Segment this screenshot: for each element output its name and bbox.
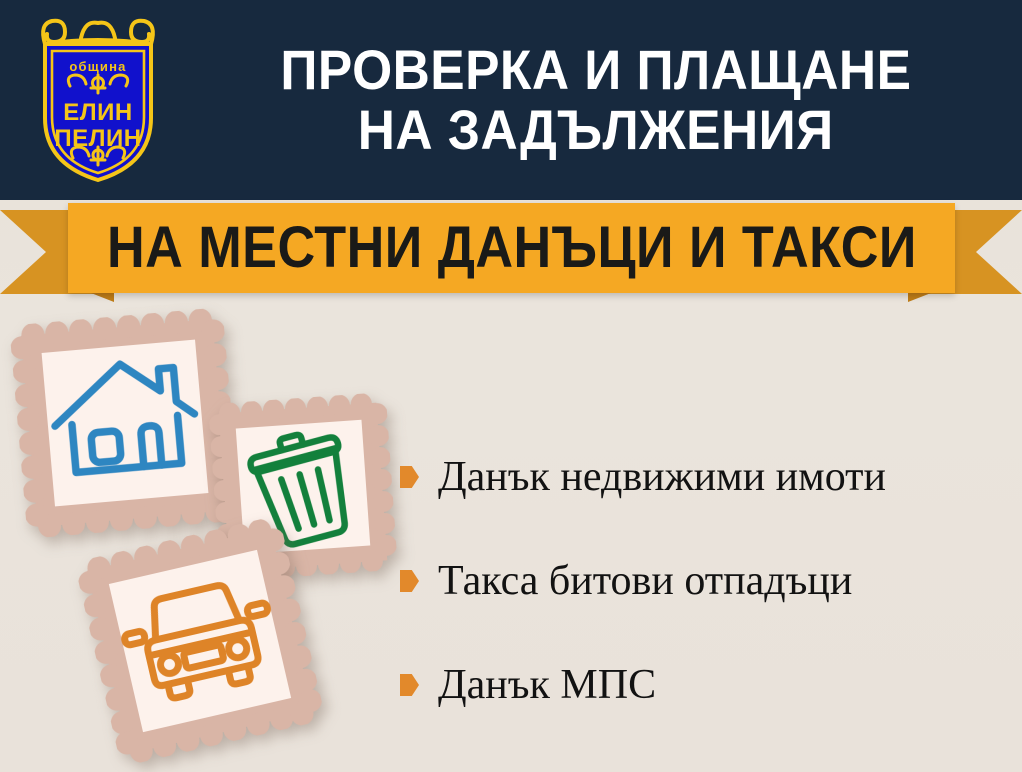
stamp-card-property xyxy=(9,307,241,539)
tax-type-list: Данък недвижими имоти Такса битови отпад… xyxy=(400,425,1010,737)
bullet-arrow-icon xyxy=(400,674,419,696)
ribbon-banner: НА МЕСТНИ ДАНЪЦИ И ТАКСИ xyxy=(68,203,955,293)
poster-header: община ЕЛИН ПЕЛИН xyxy=(0,0,1022,200)
list-item-waste-fee[interactable]: Такса битови отпадъци xyxy=(400,529,1010,633)
list-item-vehicle-tax[interactable]: Данък МПС xyxy=(400,633,1010,737)
list-item-label: Данък недвижими имоти xyxy=(438,454,886,500)
municipality-logo: община ЕЛИН ПЕЛИН xyxy=(0,0,196,200)
bullet-arrow-icon xyxy=(400,570,419,592)
poster-title: ПРОВЕРКА И ПЛАЩАНЕ НА ЗАДЪЛЖЕНИЯ xyxy=(196,0,1022,200)
poster-canvas: община ЕЛИН ПЕЛИН xyxy=(0,0,1022,772)
title-line-2: НА ЗАДЪЛЖЕНИЯ xyxy=(358,100,834,160)
title-line-1: ПРОВЕРКА И ПЛАЩАНЕ xyxy=(281,40,912,100)
coat-of-arms-icon: община ЕЛИН ПЕЛИН xyxy=(23,14,173,186)
svg-text:ЕЛИН: ЕЛИН xyxy=(63,99,132,126)
bullet-arrow-icon xyxy=(400,466,419,488)
list-item-label: Такса битови отпадъци xyxy=(438,558,852,604)
list-item-label: Данък МПС xyxy=(438,662,656,708)
subtitle-ribbon: НА МЕСТНИ ДАНЪЦИ И ТАКСИ xyxy=(0,196,1022,308)
list-item-property-tax[interactable]: Данък недвижими имоти xyxy=(400,425,1010,529)
svg-text:община: община xyxy=(69,59,126,74)
ribbon-label: НА МЕСТНИ ДАНЪЦИ И ТАКСИ xyxy=(107,217,917,279)
house-stamp-svg xyxy=(9,307,241,539)
